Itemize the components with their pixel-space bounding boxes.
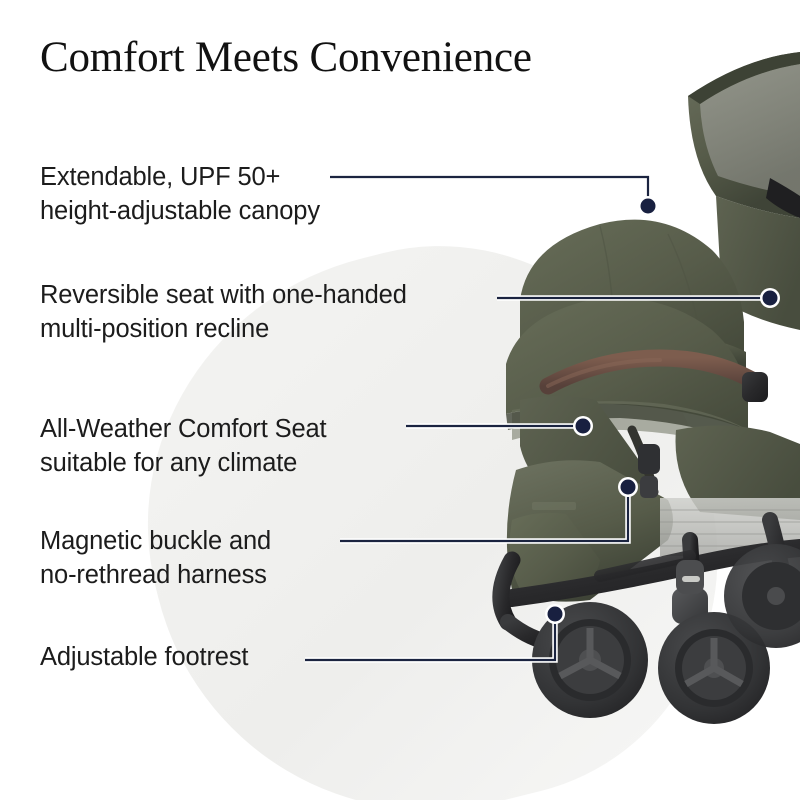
handlebar-joint — [742, 372, 768, 402]
seat-brand-emboss — [532, 502, 576, 510]
harness-adjuster — [640, 476, 658, 498]
wheel-front-left — [532, 602, 648, 718]
infographic-page: Comfort Meets Convenience — [0, 0, 800, 800]
wheel-stem-accent — [682, 576, 700, 582]
feature-label-canopy: Extendable, UPF 50+ height-adjustable ca… — [40, 160, 320, 228]
feature-label-footrest: Adjustable footrest — [40, 640, 248, 674]
hub-rear — [767, 587, 785, 605]
page-title: Comfort Meets Convenience — [40, 34, 532, 81]
stroller-illustration — [0, 0, 800, 800]
harness-buckle — [638, 444, 660, 474]
feature-label-reversible-seat: Reversible seat with one-handed multi-po… — [40, 278, 407, 346]
feature-label-comfort-seat: All-Weather Comfort Seat suitable for an… — [40, 412, 326, 480]
feature-label-magnetic-buckle: Magnetic buckle and no-rethread harness — [40, 524, 271, 592]
